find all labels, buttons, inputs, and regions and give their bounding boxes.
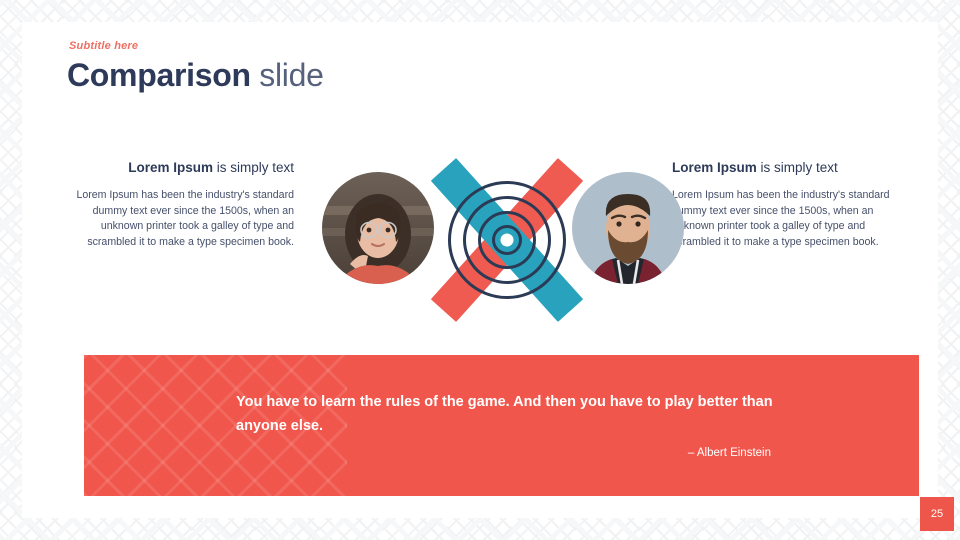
- comparison-heading-right: Lorem Ipsum is simply text: [672, 160, 894, 175]
- quote-author: – Albert Einstein: [688, 447, 771, 459]
- quote-text: You have to learn the rules of the game.…: [236, 390, 781, 438]
- quote-banner: You have to learn the rules of the game.…: [84, 355, 919, 496]
- slide-card: Subtitle here Comparison slide Lorem Ips…: [22, 22, 938, 518]
- page-number-badge: 25: [920, 497, 954, 531]
- page-title-bold: Comparison: [67, 57, 251, 93]
- comparison-heading-left: Lorem Ipsum is simply text: [72, 160, 294, 175]
- target-ring-center: [501, 233, 514, 246]
- page-title-light: slide: [251, 57, 324, 93]
- comparison-heading-left-rest: is simply text: [213, 160, 294, 175]
- comparison-column-right: Lorem Ipsum is simply text Lorem Ipsum h…: [672, 160, 894, 250]
- comparison-column-left: Lorem Ipsum is simply text Lorem Ipsum h…: [72, 160, 294, 250]
- comparison-heading-right-rest: is simply text: [757, 160, 838, 175]
- avatar-right: [572, 172, 684, 284]
- page-title: Comparison slide: [67, 57, 324, 94]
- avatar-left: [322, 172, 434, 284]
- comparison-heading-left-bold: Lorem Ipsum: [128, 160, 213, 175]
- slide-subtitle: Subtitle here: [69, 40, 138, 52]
- target-rings-icon: [448, 181, 566, 299]
- comparison-body-left: Lorem Ipsum has been the industry's stan…: [72, 188, 294, 250]
- comparison-body-right: Lorem Ipsum has been the industry's stan…: [672, 188, 894, 250]
